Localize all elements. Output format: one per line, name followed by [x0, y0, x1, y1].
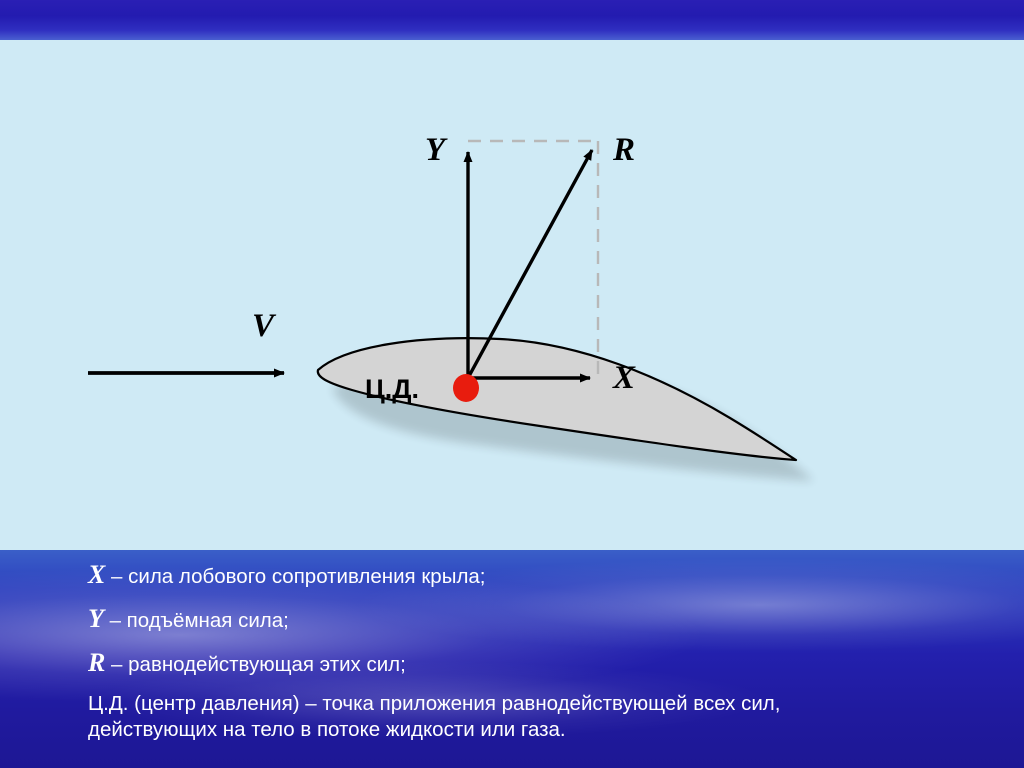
label-center-of-pressure: Ц.Д.: [365, 374, 419, 404]
caption-text-x: – сила лобового сопротивления крыла;: [105, 565, 485, 588]
caption-line-x: X – сила лобового сопротивления крыла;: [88, 560, 988, 592]
label-v: V: [252, 308, 277, 344]
caption-block: X – сила лобового сопротивления крыла; Y…: [88, 560, 988, 744]
force-diagram-svg: Y R X V Ц.Д.: [0, 40, 1024, 550]
center-of-pressure-dot: [453, 374, 479, 402]
caption-text-y: – подъёмная сила;: [104, 609, 289, 632]
label-x: X: [612, 360, 636, 396]
caption-text-r: – равнодействующая этих сил;: [105, 653, 406, 676]
diagram-panel: Y R X V Ц.Д.: [0, 40, 1024, 550]
caption-symbol-r: R: [88, 648, 105, 677]
caption-symbol-y: Y: [88, 604, 104, 633]
caption-line-r: R – равнодействующая этих сил;: [88, 648, 988, 680]
caption-symbol-x: X: [88, 560, 105, 589]
caption-paragraph-line-1: Ц.Д. (центр давления) – точка приложения…: [88, 690, 988, 718]
label-r: R: [612, 132, 635, 168]
caption-line-y: Y – подъёмная сила;: [88, 604, 988, 636]
top-banner-band: [0, 0, 1024, 40]
label-y: Y: [425, 132, 448, 168]
slide-root: Y R X V Ц.Д. X – сила лобового сопротивл…: [0, 0, 1024, 768]
caption-paragraph-line-2: действующих на тело в потоке жидкости ил…: [88, 716, 988, 744]
